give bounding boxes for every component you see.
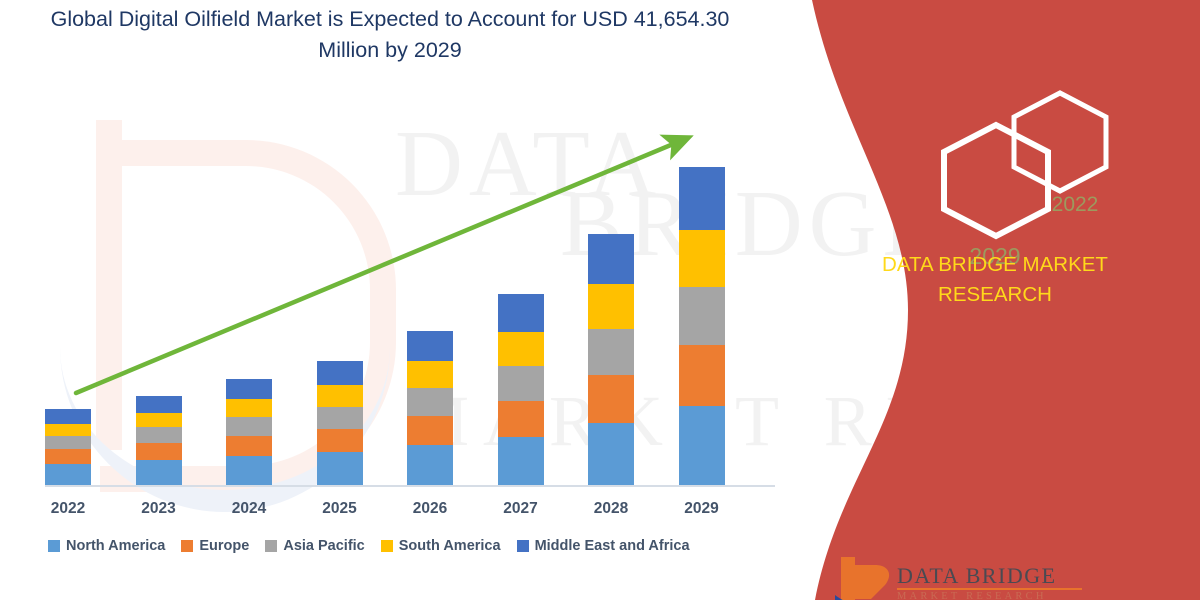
legend-label: Europe (199, 538, 249, 554)
bar-segment (588, 284, 634, 329)
bar-segment (317, 407, 363, 429)
bar-segment (226, 456, 272, 485)
bar-2024[interactable] (226, 379, 272, 485)
bar-segment (136, 396, 182, 413)
bridge-logo-icon (835, 555, 895, 600)
x-axis-label-2027: 2027 (476, 500, 566, 518)
legend-label: Middle East and Africa (535, 538, 690, 554)
bar-segment (588, 375, 634, 423)
bar-segment (317, 452, 363, 485)
footer-logo-tagline: MARKET RESEARCH (897, 591, 1047, 600)
chart-canvas: DATA BRIDGE MARKET RESEARCH Global Digit… (0, 0, 1200, 600)
bar-segment (226, 436, 272, 456)
bar-segment (45, 449, 91, 464)
bar-segment (407, 445, 453, 485)
plot-area: 20222023202420252026202720282029 (0, 0, 790, 600)
bar-segment (498, 401, 544, 437)
bar-segment (45, 409, 91, 424)
bar-segment (498, 366, 544, 401)
bar-segment (226, 379, 272, 399)
bar-segment (136, 413, 182, 427)
bar-segment (45, 436, 91, 449)
x-axis-label-2026: 2026 (385, 500, 475, 518)
bar-segment (407, 331, 453, 361)
bar-2029[interactable] (679, 167, 725, 485)
legend-item[interactable]: Europe (181, 538, 249, 554)
chart-legend: North AmericaEuropeAsia PacificSouth Ame… (48, 538, 788, 554)
x-axis-label-2022: 2022 (23, 500, 113, 518)
legend-item[interactable]: Asia Pacific (265, 538, 364, 554)
bar-2023[interactable] (136, 396, 182, 485)
bar-segment (45, 424, 91, 436)
legend-swatch-icon (381, 540, 393, 552)
x-axis-line (45, 485, 775, 487)
hexagon-group: 2029 2022 (920, 85, 1150, 250)
bar-segment (407, 388, 453, 416)
legend-swatch-icon (517, 540, 529, 552)
x-axis-label-2023: 2023 (114, 500, 204, 518)
bar-2025[interactable] (317, 361, 363, 485)
x-axis-label-2029: 2029 (657, 500, 747, 518)
legend-swatch-icon (48, 540, 60, 552)
hexagon-2029-shape (944, 125, 1048, 236)
bar-2022[interactable] (45, 409, 91, 485)
legend-item[interactable]: North America (48, 538, 165, 554)
footer-logo: DATA BRIDGE MARKET RESEARCH (835, 555, 1195, 600)
footer-logo-name: DATA BRIDGE (897, 563, 1057, 589)
legend-item[interactable]: South America (381, 538, 501, 554)
bar-segment (588, 329, 634, 375)
bar-segment (136, 443, 182, 460)
bar-segment (679, 167, 725, 230)
bar-segment (679, 345, 725, 406)
legend-label: North America (66, 538, 165, 554)
bar-segment (136, 427, 182, 443)
legend-item[interactable]: Middle East and Africa (517, 538, 690, 554)
bar-segment (226, 399, 272, 417)
hexagon-outlines (920, 85, 1150, 250)
footer-logo-rule (897, 588, 1082, 590)
hexagon-2022-label: 2022 (1025, 193, 1125, 217)
bar-segment (679, 287, 725, 345)
bar-segment (317, 385, 363, 407)
bar-2028[interactable] (588, 234, 634, 485)
bar-segment (136, 460, 182, 485)
legend-swatch-icon (181, 540, 193, 552)
bar-segment (679, 230, 725, 287)
bar-segment (679, 406, 725, 485)
bar-segment (498, 332, 544, 366)
legend-label: South America (399, 538, 501, 554)
x-axis-label-2028: 2028 (566, 500, 656, 518)
legend-label: Asia Pacific (283, 538, 364, 554)
bar-segment (407, 416, 453, 445)
brand-name: DATA BRIDGE MARKET RESEARCH (840, 250, 1150, 310)
bar-segment (588, 423, 634, 485)
x-axis-label-2024: 2024 (204, 500, 294, 518)
bar-segment (45, 464, 91, 485)
panel-title: Regions, 2022 to 2029 (900, 0, 1190, 4)
bar-segment (498, 294, 544, 332)
x-axis-label-2025: 2025 (295, 500, 385, 518)
bar-2027[interactable] (498, 294, 544, 485)
bar-segment (498, 437, 544, 485)
bar-segment (588, 234, 634, 284)
bar-segment (407, 361, 453, 388)
brand-panel: Regions, 2022 to 2029 2029 2022 DATA BRI… (780, 0, 1200, 600)
bar-2026[interactable] (407, 331, 453, 485)
bar-segment (226, 417, 272, 436)
bar-segment (317, 429, 363, 452)
legend-swatch-icon (265, 540, 277, 552)
bar-segment (317, 361, 363, 385)
